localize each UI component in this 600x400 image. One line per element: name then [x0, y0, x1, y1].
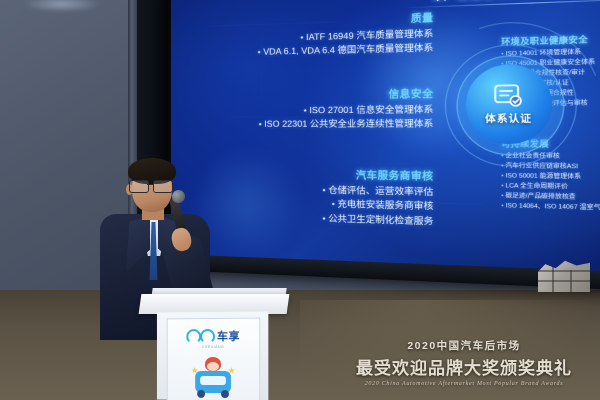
certificate-document-check-icon: [493, 83, 524, 108]
event-title-overlay: 2020中国汽车后市场 最受欢迎品牌大奖颁奖典礼 2020 China Auto…: [330, 338, 598, 396]
brand-subtitle: CHEXIANG: [202, 345, 225, 349]
brand-lockup: 车享: [186, 328, 240, 344]
list-item: ISO 22301 公共安全业务连续性管理体系: [179, 117, 434, 131]
brand-arc-icon: [186, 329, 201, 344]
event-english-title: 2020 China Automotive Aftermarket Most P…: [330, 381, 598, 387]
car-mascot-illustration: [191, 357, 235, 397]
brand-arc-icon: [200, 328, 215, 343]
event-main-title: 最受欢迎品牌大奖颁奖典礼: [330, 354, 598, 379]
system-certification-badge: 体系认证: [466, 63, 552, 144]
badge-label: 体系认证: [485, 111, 532, 126]
screenshot-root: 车产业链各环节提供全套专业的解决方案 质量 IATF 16949 汽车质量管理体…: [0, 0, 600, 400]
block-list: IATF 16949 汽车质量管理体系 VDA 6.1, VDA 6.4 德国汽…: [189, 27, 434, 61]
wall-light-glint: [22, 0, 102, 12]
event-year-line: 2020中国汽车后市场: [330, 338, 598, 353]
slide-block-infosec: 信息安全 ISO 27001 信息安全管理体系 ISO 22301 公共安全业务…: [179, 85, 434, 131]
brand-name: 车享: [217, 328, 240, 344]
block-list: ISO 27001 信息安全管理体系 ISO 22301 公共安全业务连续性管理…: [179, 103, 434, 132]
block-heading: 信息安全: [179, 85, 434, 103]
eyeglasses: [129, 180, 174, 191]
list-item: ISO 27001 信息安全管理体系: [179, 103, 434, 119]
podium-brand-panel: 车享 CHEXIANG: [167, 318, 260, 400]
slide-block-quality: 质量 IATF 16949 汽车质量管理体系 VDA 6.1, VDA 6.4 …: [189, 9, 434, 61]
